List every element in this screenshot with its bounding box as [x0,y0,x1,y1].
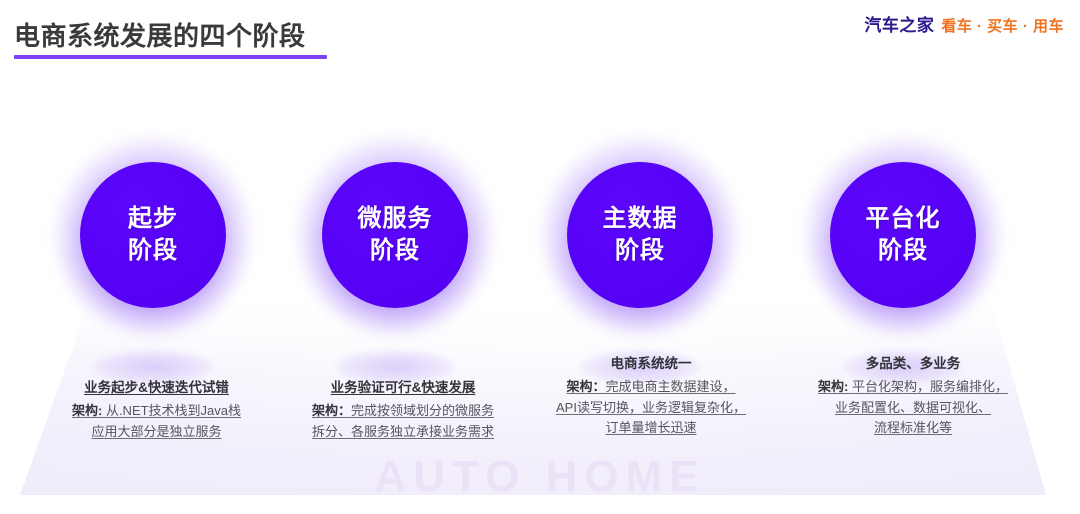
stage-2-body: 架构：完成按领域划分的微服务 拆分、各服务独立承接业务需求 [267,401,539,442]
stage-circle-2[interactable]: 微服务 阶段 [322,162,468,308]
stage-2-body-line-1: 架构：完成按领域划分的微服务 [267,401,539,422]
stage-caption-1: 业务起步&快速迭代试错 架构: 从.NET技术栈到Java栈 应用大部分是独立服… [23,376,290,442]
stage-4-label-line2: 阶段 [878,235,928,267]
stage-2-body-line-2: 拆分、各服务独立承接业务需求 [267,422,539,443]
stage-caption-4: 多品类、多业务 架构: 平台化架构，服务编排化， 业务配置化、数据可视化、 流程… [772,352,1054,439]
brand-tagline: 看车 · 买车 · 用车 [941,15,1064,36]
stage-2-label-line2: 阶段 [370,235,420,267]
stage-3-body-text-3: 订单量增长迅速 [605,420,696,435]
stage-4-body-text-3: 流程标准化等 [874,420,952,435]
stage-1-body-line-2: 应用大部分是独立服务 [23,422,290,443]
stage-caption-3: 电商系统统一 架构：完成电商主数据建设， API读写切换，业务逻辑复杂化， 订单… [515,352,787,439]
stage-4-label-line1: 平台化 [866,203,941,235]
stage-circle-3[interactable]: 主数据 阶段 [567,162,713,308]
stage-1-body-text-1: 从.NET技术栈到Java栈 [102,403,241,418]
stage-3-label-line2: 阶段 [615,235,665,267]
title-underline-rule [14,55,327,59]
stage-3-body-label-1: 架构： [566,379,605,394]
stage-2-body-text-2: 拆分、各服务独立承接业务需求 [312,424,494,439]
stage-4-body-text-2: 业务配置化、数据可视化、 [835,400,991,415]
stage-circle-1[interactable]: 起步 阶段 [80,162,226,308]
circle-body-1[interactable]: 起步 阶段 [80,162,226,308]
stage-2-label-line1: 微服务 [358,203,433,235]
stage-caption-2: 业务验证可行&快速发展 架构：完成按领域划分的微服务 拆分、各服务独立承接业务需… [267,376,539,442]
circle-body-2[interactable]: 微服务 阶段 [322,162,468,308]
slide-canvas: AUTO HOME 汽车之家 看车 · 买车 · 用车 电商系统发展的四个阶段 … [0,0,1080,514]
stage-4-heading: 多品类、多业务 [772,352,1054,372]
brand-logo: 汽车之家 看车 · 买车 · 用车 [864,11,1064,36]
stage-3-body-line-2: API读写切换，业务逻辑复杂化， [515,398,787,419]
stage-4-body-line-1: 架构: 平台化架构，服务编排化， [772,377,1054,398]
stage-1-label-line1: 起步 [128,203,178,235]
stage-1-body: 架构: 从.NET技术栈到Java栈 应用大部分是独立服务 [23,401,290,442]
stage-2-heading: 业务验证可行&快速发展 [267,376,539,396]
stage-3-label-line1: 主数据 [603,203,678,235]
stage-1-body-label-1: 架构: [72,403,102,418]
stage-1-body-line-1: 架构: 从.NET技术栈到Java栈 [23,401,290,422]
circle-body-3[interactable]: 主数据 阶段 [567,162,713,308]
page-title: 电商系统发展的四个阶段 [14,22,327,59]
page-title-text: 电商系统发展的四个阶段 [14,22,327,52]
stage-2-body-label-1: 架构： [312,403,351,418]
circle-body-4[interactable]: 平台化 阶段 [830,162,976,308]
stage-circle-4[interactable]: 平台化 阶段 [830,162,976,308]
stage-4-body-line-3: 流程标准化等 [772,418,1054,439]
stage-3-body-line-3: 订单量增长迅速 [515,418,787,439]
brand-name: 汽车之家 [864,11,934,36]
stage-4-body-line-2: 业务配置化、数据可视化、 [772,398,1054,419]
stage-3-body-text-1: 完成电商主数据建设， [606,379,736,394]
stage-4-body-text-1: 平台化架构，服务编排化， [848,379,1008,394]
stage-3-body: 架构：完成电商主数据建设， API读写切换，业务逻辑复杂化， 订单量增长迅速 [515,377,787,439]
stage-2-body-text-1: 完成按领域划分的微服务 [351,403,494,418]
stage-4-body-label-1: 架构: [818,379,848,394]
stage-3-heading: 电商系统统一 [515,352,787,372]
stage-3-body-text-2: API读写切换，业务逻辑复杂化， [556,400,746,415]
stage-1-label-line2: 阶段 [128,235,178,267]
stage-4-body: 架构: 平台化架构，服务编排化， 业务配置化、数据可视化、 流程标准化等 [772,377,1054,439]
stage-1-body-text-2: 应用大部分是独立服务 [91,424,221,439]
stage-1-heading: 业务起步&快速迭代试错 [23,376,290,396]
stage-3-body-line-1: 架构：完成电商主数据建设， [515,377,787,398]
